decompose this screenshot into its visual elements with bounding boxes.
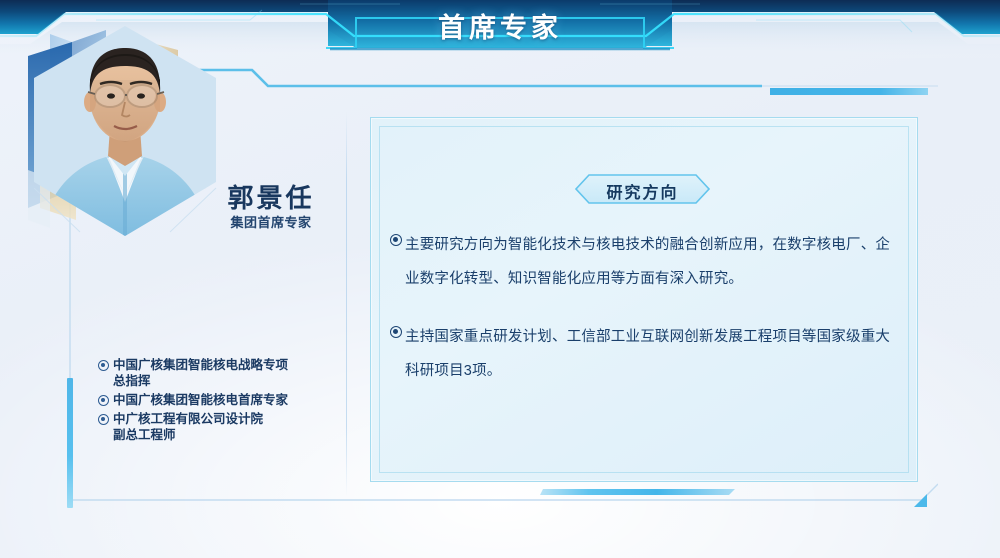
list-item: 中国广核集团智能核电战略专项 总指挥 — [98, 357, 338, 389]
list-item: 中国广核集团智能核电首席专家 — [98, 392, 338, 408]
credential-text: 中国广核集团智能核电战略专项 总指挥 — [113, 357, 338, 389]
credential-text: 中广核工程有限公司设计院 副总工程师 — [113, 411, 338, 443]
credentials-list: 中国广核集团智能核电战略专项 总指挥 中国广核集团智能核电首席专家 中广核工程有… — [98, 357, 338, 446]
page-title: 首席专家 — [0, 6, 1000, 45]
frame-corner-triangle — [914, 494, 927, 507]
bullet-dot-icon — [98, 414, 109, 425]
research-items-list: 主要研究方向为智能化技术与核电技术的融合创新应用，在数字核电厂、企业数字化转型、… — [390, 228, 895, 412]
research-item-text: 主要研究方向为智能化技术与核电技术的融合创新应用，在数字核电厂、企业数字化转型、… — [405, 228, 895, 296]
column-divider — [346, 112, 347, 496]
bullet-dot-icon — [98, 360, 109, 371]
panel-underbar-accent — [540, 489, 735, 495]
research-item: 主持国家重点研发计划、工信部工业互联网创新发展工程项目等国家级重大科研项目3项。 — [390, 320, 895, 388]
person-role: 集团首席专家 — [196, 212, 346, 231]
frame-accent-top-right — [770, 88, 928, 95]
research-item: 主要研究方向为智能化技术与核电技术的融合创新应用，在数字核电厂、企业数字化转型、… — [390, 228, 895, 296]
badge-label: 研究方向 — [575, 179, 710, 203]
frame-accent-left — [67, 378, 73, 508]
list-item: 中广核工程有限公司设计院 副总工程师 — [98, 411, 338, 443]
bullet-dot-icon — [98, 395, 109, 406]
credential-text: 中国广核集团智能核电首席专家 — [113, 392, 338, 408]
research-direction-badge: 研究方向 — [575, 174, 710, 204]
research-item-text: 主持国家重点研发计划、工信部工业互联网创新发展工程项目等国家级重大科研项目3项。 — [405, 320, 895, 388]
bullet-dot-icon — [390, 234, 402, 246]
person-name: 郭景任 — [196, 178, 346, 215]
bullet-dot-icon — [390, 326, 402, 338]
